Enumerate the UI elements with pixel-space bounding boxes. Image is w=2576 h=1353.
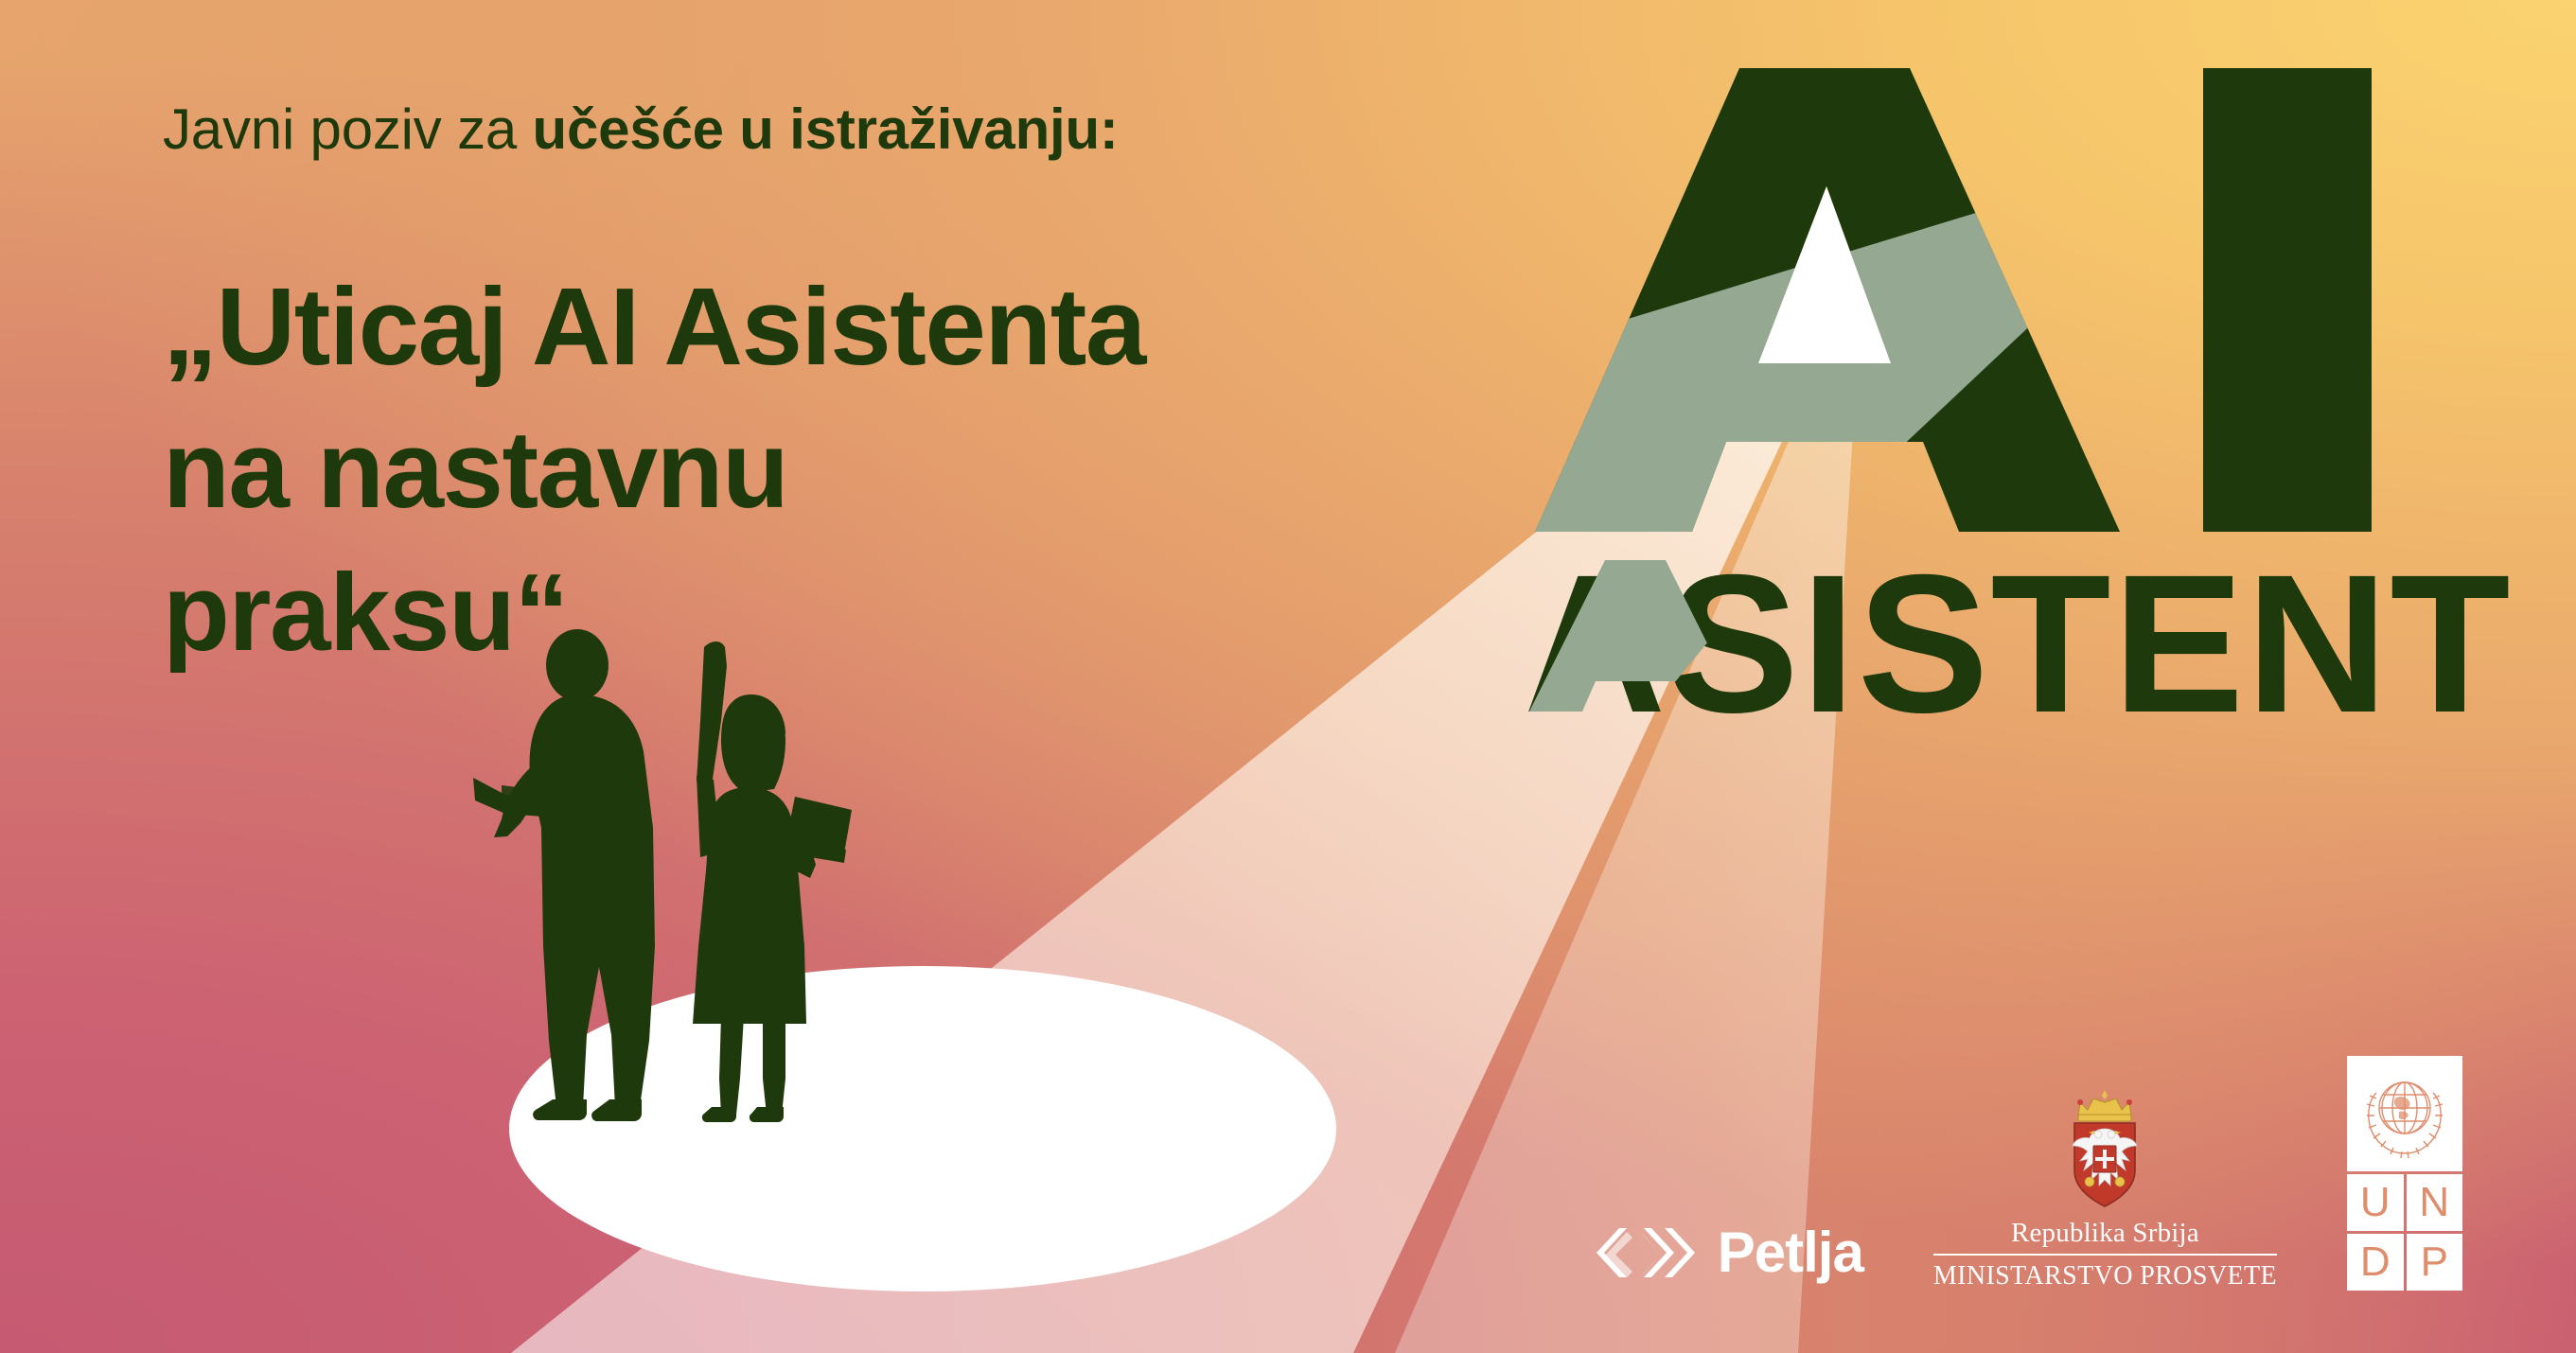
eyebrow-emphasis: učešće u istraživanju: [533,97,1119,161]
eyebrow-text: Javni poziv za učešće u istraživanju: [163,98,1412,161]
petlja-chevron-icon [1595,1226,1697,1279]
page-title-line-3: praksu“ [163,541,1412,684]
ministry-divider [1933,1254,2277,1256]
partner-logos: Petlja [1595,1056,2462,1291]
silhouette-group [473,634,871,1145]
undp-letter-u: U [2347,1174,2404,1231]
ministry-name-line-1: Republika Srbija [1933,1218,2277,1248]
ministry-name-line-2: MINISTARSTVO PROSVETE [1933,1261,2277,1291]
eyebrow-lead: Javni poziv za [163,97,533,161]
page-title-line-2: na nastavnu [163,398,1412,541]
serbian-coat-of-arms-icon [2056,1087,2154,1212]
undp-logo[interactable]: U N D P [2347,1056,2462,1291]
page-title: „Uticaj AI Asistenta na nastavnu praksu“ [163,255,1412,683]
banner-copy: Javni poziv za učešće u istraživanju: „U… [163,98,1412,683]
logo-letter-i [2203,68,2372,532]
student-raised-hand-silhouette-icon [693,641,852,1122]
undp-emblem-box [2347,1056,2462,1171]
undp-letter-grid: U N D P [2347,1174,2462,1291]
teacher-silhouette-icon [473,629,655,1121]
petlja-logo[interactable]: Petlja [1595,1224,1863,1291]
page-title-line-1: „Uticaj AI Asistenta [163,255,1412,398]
ministry-logo[interactable]: Republika Srbija MINISTARSTVO PROSVETE [1933,1087,2277,1291]
ai-asistent-logo: ASISTENT [1514,59,2517,721]
petlja-wordmark: Petlja [1718,1224,1863,1281]
campaign-banner: Javni poziv za učešće u istraživanju: „U… [0,0,2576,1353]
united-nations-emblem-icon [2357,1066,2452,1161]
undp-letter-d: D [2347,1234,2404,1291]
undp-letter-p: P [2407,1234,2463,1291]
undp-letter-n: N [2407,1174,2463,1231]
